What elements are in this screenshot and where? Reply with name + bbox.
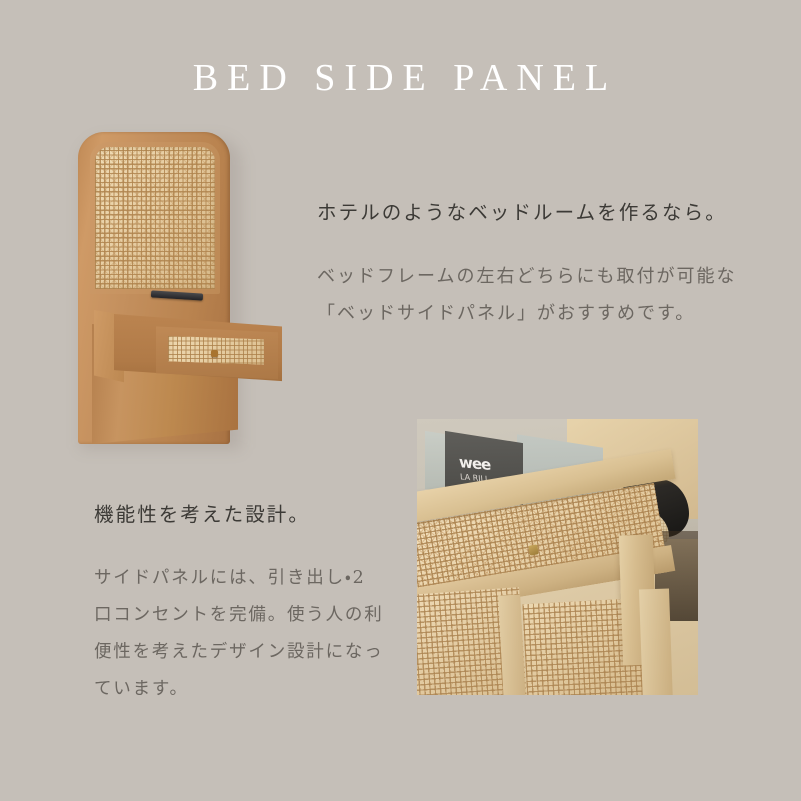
left-paragraph-line: ています。 [94,671,394,708]
page-title: BED SIDE PANEL [0,55,801,101]
left-paragraph-line: サイドパネルには、引き出し・2 [94,560,394,597]
right-paragraph-line: 「ベッドサイドパネル」がおすすめです。 [317,295,777,332]
left-paragraph-line: 便性を考えたデザイン設計になっ [94,634,394,671]
right-paragraph-line: ベッドフレームの左右どちらにも取付が可能な [317,258,777,295]
left-paragraph: サイドパネルには、引き出し・2 口コンセントを完備。使う人の利 便性を考えたデザ… [94,560,394,708]
right-side-post [639,589,673,695]
product-photo [72,128,300,450]
page-root: BED SIDE PANEL ホテルのようなベッドルームを作るなら。 ベッドフレ… [0,0,801,801]
detail-drawer-knob [528,544,538,555]
book-title-text: wee [459,456,491,471]
right-copy-block: ホテルのようなベッドルームを作るなら。 ベッドフレームの左右どちらにも取付が可能… [317,198,777,332]
section-heading: 機能性を考えた設計。 [94,500,394,530]
cane-panel-frame [90,142,220,294]
left-paragraph-line: 口コンセントを完備。使う人の利 [94,597,394,634]
drawer-knob [211,350,218,357]
right-paragraph: ベッドフレームの左右どちらにも取付が可能な 「ベッドサイドパネル」がおすすめです… [317,258,777,332]
detail-photo: TOMMELISE wee LA RILL [417,419,698,695]
left-copy-block: 機能性を考えた設計。 サイドパネルには、引き出し・2 口コンセントを完備。使う人… [94,500,394,708]
cane-weave-texture [95,147,215,289]
lead-text: ホテルのようなベッドルームを作るなら。 [317,198,777,228]
